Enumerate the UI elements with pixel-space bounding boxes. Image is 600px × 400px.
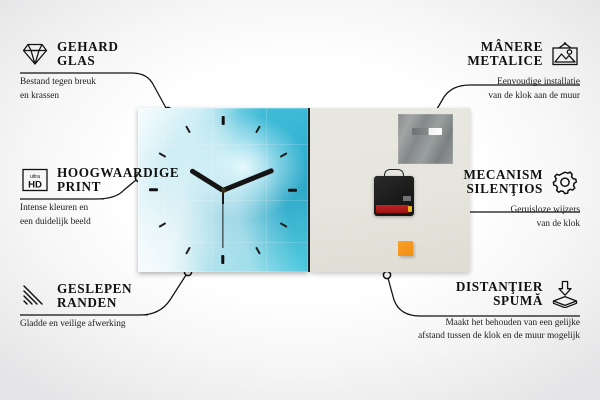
feature-subtitle-line: Geruisloze wijzers xyxy=(463,204,580,217)
quartz-mechanism xyxy=(374,176,414,216)
feature-hoogwaardige-print: ultra HD HOOGWAARDIGE PRINT Intense kleu… xyxy=(20,166,179,229)
feature-title-line: SPUMĂ xyxy=(456,294,543,308)
feature-subtitle-line: en krassen xyxy=(20,90,118,103)
clock-back-panel xyxy=(310,108,470,272)
picture-frame-icon xyxy=(550,41,580,67)
feature-title-line: MECANISM xyxy=(463,168,543,182)
ultra-hd-icon: ultra HD xyxy=(20,167,50,193)
feature-title-line: METALICE xyxy=(467,54,543,68)
clock-hour-hand xyxy=(189,168,224,193)
feature-distantier-spuma: DISTANŢIER SPUMĂ Maakt het behouden van … xyxy=(418,280,580,343)
diamond-icon xyxy=(20,41,50,67)
ultra-hd-icon-bottom-text: HD xyxy=(28,179,42,190)
feature-subtitle-line: Gladde en veilige afwerking xyxy=(20,318,132,331)
infographic-canvas: GEHARD GLAS Bestand tegen breuk en krass… xyxy=(0,0,600,400)
feature-subtitle-line: Intense kleuren en xyxy=(20,202,179,215)
feature-title-line: GEHARD xyxy=(57,40,118,54)
feature-subtitle-line: afstand tussen de klok en de muur mogeli… xyxy=(418,330,580,343)
feature-manere-metalice: MÂNERE METALICE Eenvoudige installatie v… xyxy=(467,40,580,103)
feature-title-line: RANDEN xyxy=(57,296,132,310)
gear-icon xyxy=(550,169,580,195)
spacer-arrow-icon xyxy=(550,280,580,308)
feature-title-line: DISTANŢIER xyxy=(456,280,543,294)
feature-title-line: MÂNERE xyxy=(467,40,543,54)
feature-subtitle-line: van de klok xyxy=(463,218,580,231)
metal-hanger-plate xyxy=(398,114,453,164)
feature-title-line: SILENŢIOS xyxy=(463,182,543,196)
feature-title-line: PRINT xyxy=(57,180,179,194)
feature-mecanism-silentios: MECANISM SILENŢIOS Geruisloze wijzers va… xyxy=(463,168,580,231)
feature-subtitle-line: van de klok aan de muur xyxy=(467,90,580,103)
feature-subtitle-line: een duidelijk beeld xyxy=(20,216,179,229)
feature-title-line: GESLEPEN xyxy=(57,282,132,296)
bevelled-edge-icon xyxy=(20,283,50,309)
feature-title-line: HOOGWAARDIGE xyxy=(57,166,179,180)
feature-title-line: GLAS xyxy=(57,54,118,68)
feature-subtitle-line: Maakt het behouden van een gelijke xyxy=(418,317,580,330)
feature-subtitle-line: Bestand tegen breuk xyxy=(20,76,118,89)
clock-pivot xyxy=(221,188,226,193)
product-image xyxy=(138,108,470,272)
foam-spacer xyxy=(398,241,413,256)
feature-subtitle-line: Eenvoudige installatie xyxy=(467,76,580,89)
feature-gehard-glas: GEHARD GLAS Bestand tegen breuk en krass… xyxy=(20,40,118,103)
feature-geslepen-randen: GESLEPEN RANDEN Gladde en veilige afwerk… xyxy=(20,282,132,332)
dot-distantier-spuma xyxy=(383,271,390,278)
